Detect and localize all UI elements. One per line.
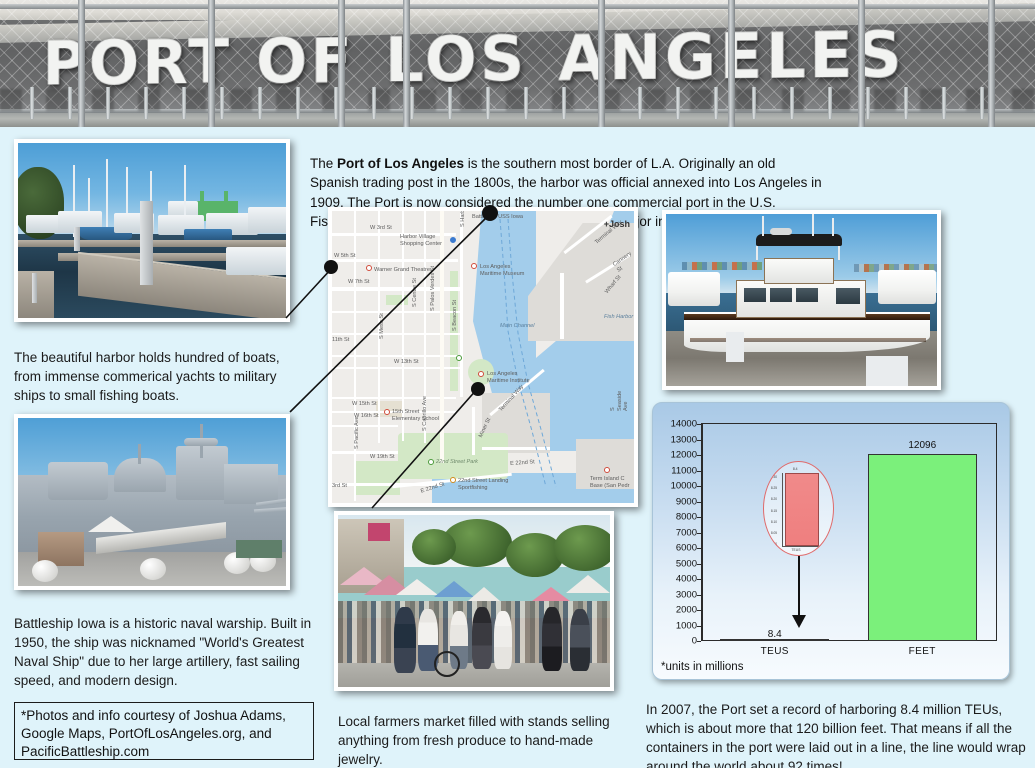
callout-arrow-head	[792, 615, 806, 628]
map-label: W 13th St	[394, 359, 419, 366]
intro-lead: The	[310, 156, 337, 171]
map-label: 11th St	[332, 337, 349, 344]
market-shopper	[394, 607, 416, 673]
battleship-superstructure	[48, 462, 108, 500]
map-label: Fish Harbor	[604, 314, 633, 321]
chart-y-tick-label: 6000	[676, 543, 697, 554]
sign-leg	[68, 87, 72, 119]
magnified-teus-bar	[785, 473, 819, 546]
map-poi-15th-street-school[interactable]	[384, 409, 390, 415]
sign-leg	[828, 87, 832, 119]
fence-post	[78, 0, 85, 127]
chart-y-tick-mark	[697, 610, 701, 611]
background-boat	[668, 272, 720, 306]
chart-y-tick-mark	[697, 486, 701, 487]
sign-leg	[638, 87, 642, 119]
chart-x-tick-label: TEUS	[761, 646, 789, 657]
magnified-y-axis	[782, 473, 783, 546]
map-label: S Mesa St	[379, 313, 386, 339]
map-photo[interactable]: +Josh W 3rd StW 5th StW 7th StW 13th StW…	[328, 207, 638, 507]
fence-top-rail	[0, 4, 1035, 9]
market-banner-sign	[368, 523, 390, 541]
chart-y-tick-label: 4000	[676, 574, 697, 585]
market-shopper	[542, 607, 562, 671]
sign-leg	[30, 87, 34, 119]
map-label: Los Angeles Maritime Museum	[480, 264, 524, 277]
market-shopper	[570, 609, 590, 671]
moored-boat	[248, 207, 290, 233]
fence-post	[338, 0, 345, 127]
teus-feet-bar-chart: 0100020003000400050006000700080009000100…	[652, 402, 1010, 680]
farmers-market-photo	[334, 511, 614, 691]
map-label: W 15th St	[352, 401, 377, 408]
magnified-y-tick-label: 8.05	[771, 531, 777, 535]
sign-leg	[258, 87, 262, 119]
chart-y-tick-mark	[697, 579, 701, 580]
map-label: Los Angeles Maritime Institute	[487, 371, 530, 384]
sign-leg	[372, 87, 376, 119]
market-tent-white	[468, 587, 500, 601]
yacht-antenna	[812, 214, 814, 236]
magnified-y-tick-label: 8.00	[771, 542, 777, 546]
yacht-bimini-canopy	[756, 234, 842, 246]
battleship-mast	[138, 444, 141, 464]
map-label: S Harbor Blvd	[460, 207, 467, 227]
magnified-value-label: 8.4	[793, 467, 798, 471]
map-label: 22nd Street Park	[436, 459, 478, 466]
yacht-window	[796, 288, 818, 302]
connector-harbor-to-map	[286, 268, 332, 318]
chart-y-tick-label: 1000	[676, 620, 697, 631]
map-poi-warner-grand-theatre[interactable]	[366, 265, 372, 271]
sign-leg	[676, 87, 680, 119]
radar-platform	[184, 438, 218, 446]
fence-post	[403, 0, 410, 127]
chart-y-axis	[701, 424, 703, 641]
sign-leg	[220, 87, 224, 119]
market-shopper	[494, 611, 512, 669]
map-label: Term Island C Base (San Pedr	[590, 476, 630, 489]
battleship-photo	[14, 414, 290, 590]
sign-leg	[752, 87, 756, 119]
yacht-window	[836, 288, 860, 304]
callout-arrow-line	[798, 556, 800, 617]
chart-y-tick-label: 8000	[676, 512, 697, 523]
chart-y-tick-mark	[697, 517, 701, 518]
magnified-x-label: TEUS	[791, 548, 800, 552]
map-poi-harbor-village[interactable]	[450, 237, 456, 243]
chart-y-tick-mark	[697, 641, 701, 642]
map-label: W 3rd St	[370, 225, 392, 232]
chart-bar-teus	[720, 639, 829, 641]
sign-leg	[524, 87, 528, 119]
map-poi-maritime-museum[interactable]	[471, 263, 477, 269]
sign-leg	[790, 87, 794, 119]
fence-post	[208, 0, 215, 127]
small-boat-right	[226, 247, 290, 275]
radar-dome	[770, 228, 792, 235]
chart-y-tick-mark	[697, 564, 701, 565]
tree	[412, 529, 456, 565]
chart-caption: In 2007, the Port set a record of harbor…	[646, 700, 1035, 768]
map-poi-22nd-street-landing[interactable]	[450, 477, 456, 483]
chart-bar-value-label: 12096	[908, 440, 936, 451]
chart-y-tick-label: 12000	[671, 450, 697, 461]
yacht-window	[744, 288, 766, 302]
dock-piling	[140, 201, 153, 285]
yacht-flybridge	[764, 258, 834, 284]
market-tent-white	[566, 575, 610, 593]
yacht-mast	[762, 216, 764, 236]
yacht-rail	[756, 246, 758, 260]
chart-y-tick-mark	[697, 471, 701, 472]
harbor-photo	[14, 139, 290, 322]
chart-x-tick-label: FEET	[909, 646, 936, 657]
map-label: W 7th St	[348, 279, 369, 286]
map-label: S Beacon St	[452, 300, 459, 331]
map-label: Warner Grand Theatre	[374, 267, 430, 274]
chart-y-tick-mark	[697, 548, 701, 549]
bicycle	[434, 651, 460, 677]
fence-post	[988, 0, 995, 127]
chart-y-tick-label: 11000	[671, 465, 697, 476]
map-poi-terminal-island-base[interactable]	[604, 467, 610, 473]
map-poi-maritime-institute[interactable]	[478, 371, 484, 377]
magnifier-callout: 8.308.258.208.158.108.058.00 8.4 TEUS	[763, 461, 834, 556]
map-label: Harbor Village Shopping Center	[400, 234, 442, 247]
yacht-window	[770, 288, 792, 302]
sign-leg	[562, 87, 566, 119]
chart-units-note: *units in millions	[661, 661, 743, 673]
chart-y-tick-label: 9000	[676, 496, 697, 507]
magnified-y-tick-label: 8.25	[771, 486, 777, 490]
map-label: S Pacific Ave	[354, 416, 361, 449]
sign-leg	[144, 87, 148, 119]
harbor-caption: The beautiful harbor holds hundred of bo…	[14, 348, 304, 405]
market-tent-blue	[434, 581, 474, 597]
sign-support-legs	[0, 85, 1035, 119]
intro-bold-phrase: Port of Los Angeles	[337, 156, 464, 171]
chart-y-tick-mark	[697, 424, 701, 425]
map-label: 15th Street Elementary School	[392, 409, 439, 422]
sign-leg	[714, 87, 718, 119]
chart-y-tick-label: 3000	[676, 589, 697, 600]
sign-leg	[296, 87, 300, 119]
map-label: Battleship USS Iowa	[472, 214, 523, 221]
port-crane	[224, 191, 228, 205]
map-label: S Cabrillo Ave	[422, 396, 429, 431]
battleship-aft-structure	[224, 464, 278, 504]
chart-y-tick-label: 5000	[676, 558, 697, 569]
portable-units	[236, 540, 282, 558]
yacht-photo	[662, 210, 941, 390]
market-shopper	[472, 607, 492, 669]
map-poi-22nd-street-park[interactable]	[428, 459, 434, 465]
sign-leg	[942, 87, 946, 119]
magnified-y-tick-label: 8.15	[771, 509, 777, 513]
sign-leg	[448, 87, 452, 119]
chart-y-tick-mark	[697, 533, 701, 534]
chart-y-tick-mark	[697, 502, 701, 503]
chart-y-tick-label: 14000	[671, 419, 697, 430]
chart-y-tick-mark	[697, 455, 701, 456]
sign-leg	[980, 87, 984, 119]
market-caption: Local farmers market filled with stands …	[338, 712, 618, 768]
chart-plot-area: 0100020003000400050006000700080009000100…	[701, 423, 997, 641]
market-tent-pink	[532, 587, 570, 601]
tree	[554, 525, 614, 571]
chart-plot-inner: 0100020003000400050006000700080009000100…	[701, 424, 996, 641]
chart-y-tick-mark	[697, 440, 701, 441]
magnified-y-tick-label: 8.20	[771, 497, 777, 501]
sign-leg	[486, 87, 490, 119]
sign-leg	[106, 87, 110, 119]
map-label: 3rd St	[332, 483, 347, 490]
battleship-caption: Battleship Iowa is a historic naval wars…	[14, 614, 314, 690]
chart-y-tick-label: 7000	[676, 527, 697, 538]
map-label: S Seaside Ave	[610, 387, 630, 411]
concrete-ball-sculpture	[140, 558, 166, 580]
credits-box: *Photos and info courtesy of Joshua Adam…	[14, 702, 314, 760]
dock-piling	[74, 227, 80, 251]
map-channel-dashed-line	[332, 211, 638, 507]
header-banner-photo: PORT OF LOS ANGELES	[0, 0, 1035, 127]
chart-y-tick-label: 13000	[671, 434, 697, 445]
magnified-y-tick-label: 8.30	[771, 475, 777, 479]
chart-y-tick-label: 10000	[671, 481, 697, 492]
map-label: W 5th St	[334, 253, 355, 260]
concrete-ball-sculpture	[32, 560, 58, 582]
port-crane	[200, 191, 204, 205]
chart-y-tick-mark	[697, 595, 701, 596]
floating-dock	[18, 240, 290, 247]
chart-y-tick-label: 2000	[676, 605, 697, 616]
map-label: 22nd Street Landing Sportfishing	[458, 478, 508, 491]
shipping-containers	[682, 262, 762, 270]
map-label: S Palos Verdes St	[430, 266, 437, 311]
dock-cleat	[726, 332, 744, 362]
sign-leg	[866, 87, 870, 119]
chart-y-tick-mark	[697, 626, 701, 627]
map-label: Main Channel	[500, 323, 535, 330]
magnified-x-axis	[782, 546, 821, 547]
map-label: W 19th St	[370, 454, 395, 461]
sign-leg	[904, 87, 908, 119]
map-poi-park[interactable]	[456, 355, 462, 361]
sign-leg	[410, 87, 414, 119]
sailboat-mast	[106, 159, 108, 237]
map-label: S Centre St	[412, 278, 419, 307]
fence-post	[858, 0, 865, 127]
yacht-rail	[838, 246, 840, 260]
yacht-antenna	[832, 218, 834, 236]
fence-post	[598, 0, 605, 127]
magnified-y-tick-label: 8.10	[771, 520, 777, 524]
chart-bar-feet	[868, 454, 977, 641]
sign-leg	[182, 87, 186, 119]
background-boat	[878, 270, 936, 304]
dock-box	[866, 356, 908, 386]
dock-piling	[32, 273, 37, 303]
fence-post	[728, 0, 735, 127]
